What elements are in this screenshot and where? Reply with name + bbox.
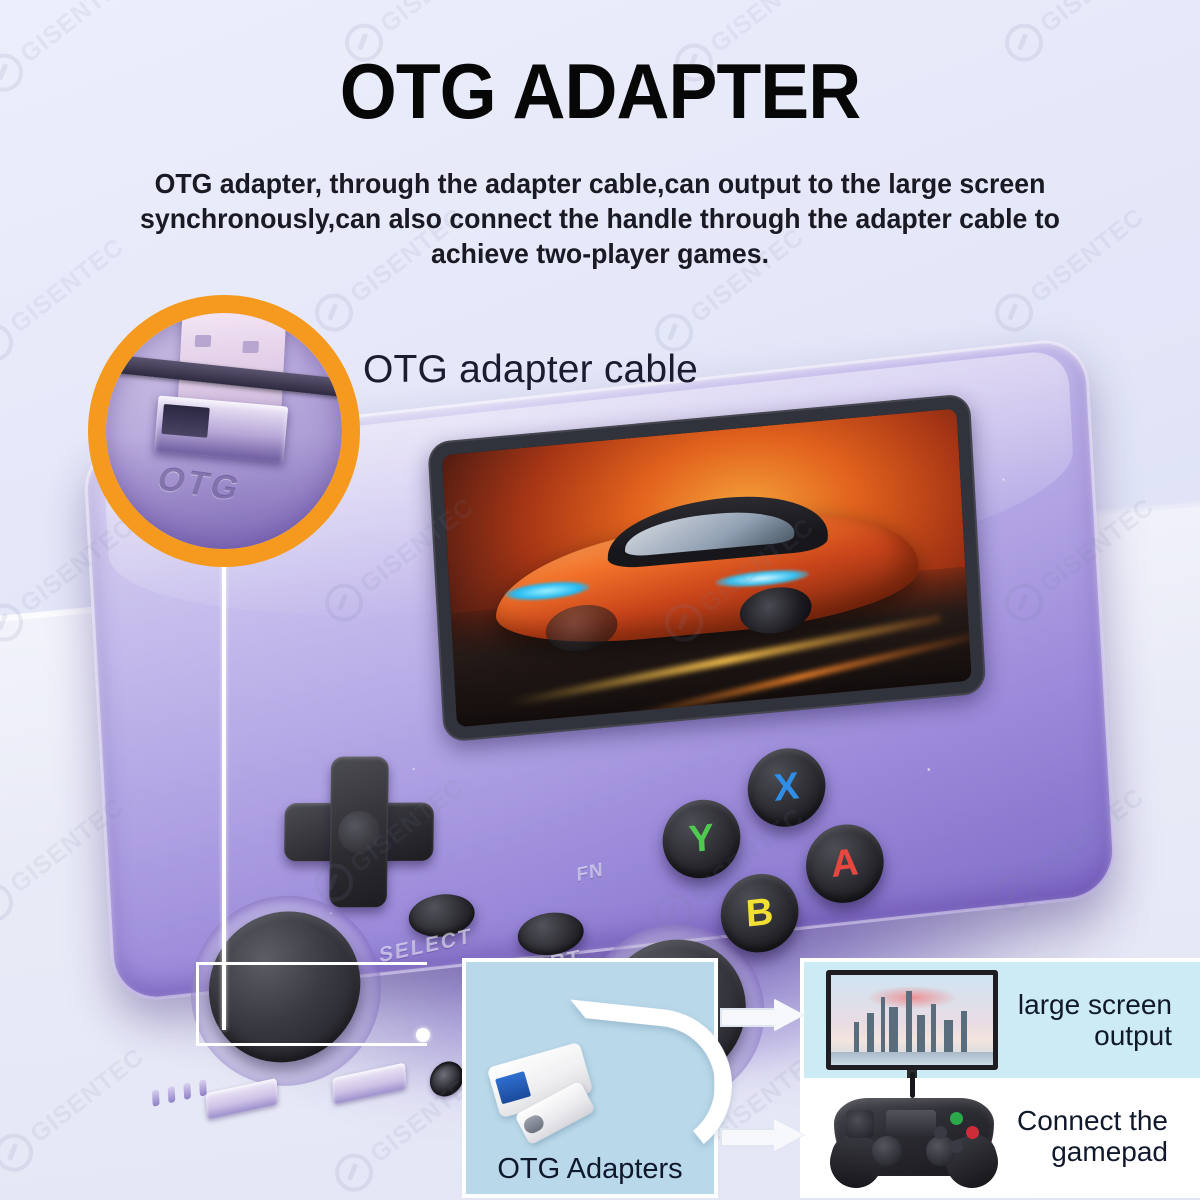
console-screen-frame <box>427 393 986 742</box>
game-car-headlight <box>715 567 809 591</box>
arrow-to-large-screen <box>720 1000 804 1030</box>
callout-leader-line <box>222 560 226 1030</box>
gamepad-icon <box>834 1084 994 1188</box>
callout-orange-ring <box>88 295 360 567</box>
usb-port <box>332 1063 406 1105</box>
gamepad-stick <box>872 1136 902 1166</box>
gamepad-dpad <box>846 1110 874 1138</box>
monitor-screen <box>826 970 998 1070</box>
monitor-water <box>831 1052 993 1065</box>
gamepad-touchpad <box>886 1110 936 1136</box>
headphone-jack <box>429 1058 464 1099</box>
large-screen-output-row: large screen output <box>804 962 1200 1078</box>
dpad <box>283 756 434 907</box>
gamepad-cord <box>910 1072 915 1098</box>
callout-label: OTG adapter cable <box>363 348 698 392</box>
page-title: OTG ADAPTER <box>36 46 1164 137</box>
connect-gamepad-caption: Connect the gamepad <box>1000 1105 1168 1168</box>
watermark-text: GISENTEC <box>1035 0 1160 39</box>
infographic-root: OTG ADAPTER OTG adapter, through the ada… <box>0 0 1200 1200</box>
game-car-headlight <box>505 578 590 603</box>
page-description: OTG adapter, through the adapter cable,c… <box>96 166 1105 272</box>
otg-port-marker-dot <box>416 1028 430 1042</box>
otg-port-zoom-callout: OTG <box>88 295 360 567</box>
otg-port-highlight-box <box>196 962 427 1046</box>
otg-adapter-caption: OTG Adapters <box>466 1153 714 1186</box>
monitor-sky-glow <box>867 986 958 1009</box>
monitor-icon <box>826 970 998 1070</box>
connect-gamepad-row: Connect the gamepad <box>804 1078 1200 1194</box>
watermark-text: GISENTEC <box>375 0 500 39</box>
large-screen-output-caption: large screen output <box>1004 989 1172 1052</box>
otg-cable-illustration <box>488 992 696 1140</box>
output-options-panel: large screen output Connect the gamepad <box>800 958 1200 1198</box>
arrow-to-gamepad <box>720 1120 804 1150</box>
console-screen <box>442 408 972 727</box>
otg-adapter-panel: OTG Adapters <box>462 958 718 1198</box>
